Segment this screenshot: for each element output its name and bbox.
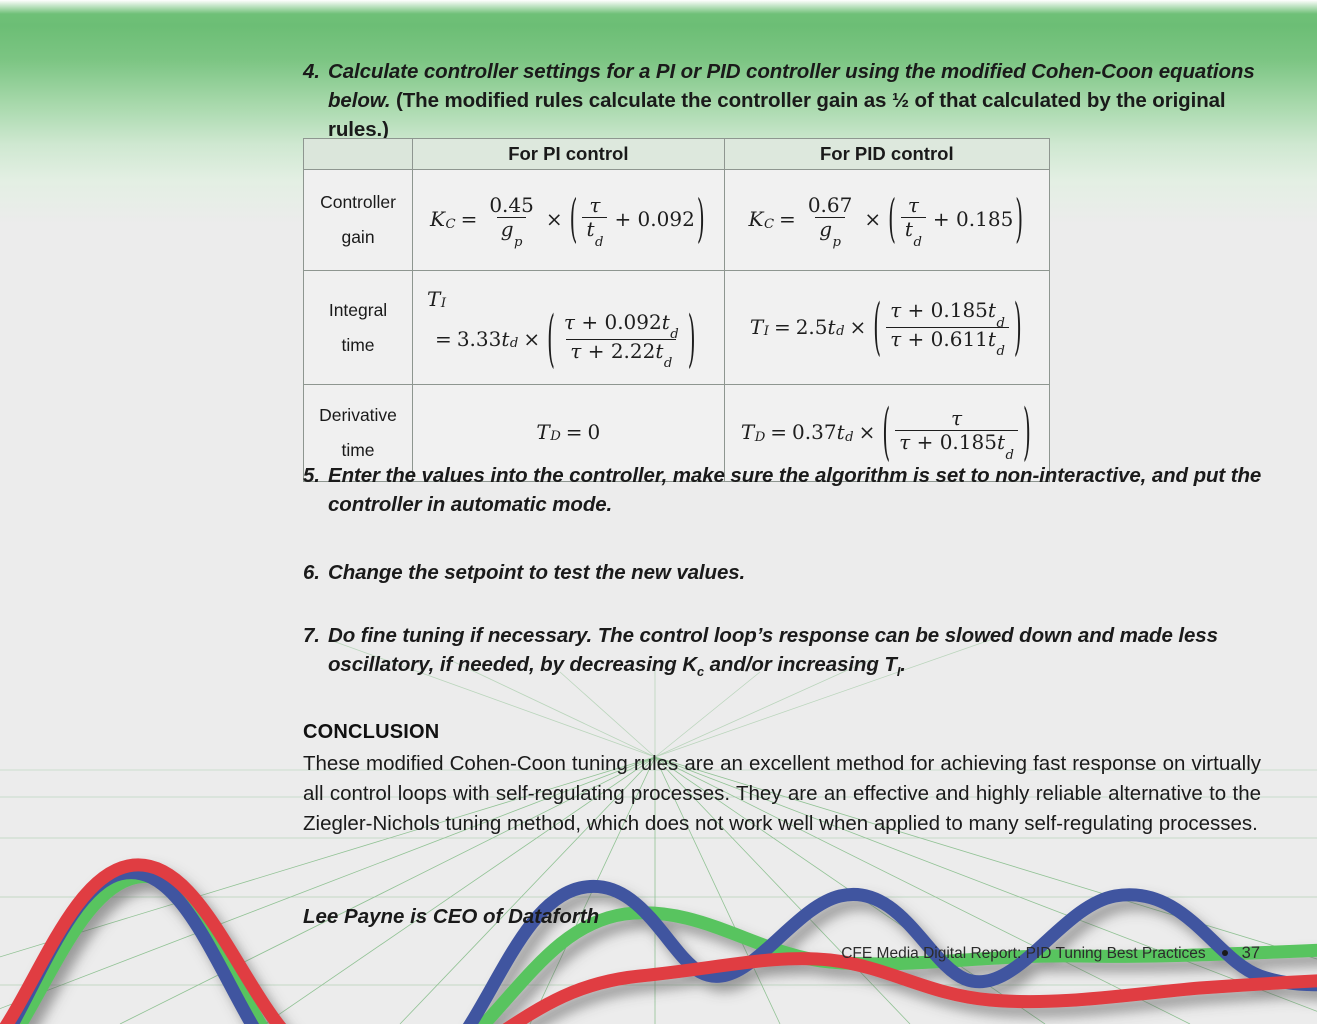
conclusion-heading: CONCLUSION	[303, 721, 439, 744]
row-label-integral-time: Integral time	[304, 271, 413, 385]
formula-cell-integral-pid: TI=2.5td × ( τ + 0.185td τ + 0.611td )	[724, 271, 1049, 385]
list-item-6: 6. Change the setpoint to test the new v…	[303, 558, 1265, 587]
list-item-4-number: 4.	[303, 57, 320, 86]
footer-bullet-separator	[1222, 950, 1228, 956]
formula-cell-gain-pid: KC= 0.67 gp × ( τ td	[724, 170, 1049, 271]
list-item-6-number: 6.	[303, 558, 320, 587]
formula-cell-integral-pi: TI =3.33td × ( τ + 0.092td τ + 2.22td	[413, 271, 725, 385]
row-label-line2: time	[341, 440, 374, 460]
list-item-4-rest: (The modified rules calculate the contro…	[328, 89, 1226, 141]
footer-page-number: 37	[1242, 944, 1260, 962]
table-header-pi: For PI control	[413, 139, 725, 170]
row-label-line2: time	[341, 335, 374, 355]
list-item-7: 7. Do fine tuning if necessary. The cont…	[303, 621, 1265, 686]
row-label-line2: gain	[341, 227, 374, 247]
table-header-row: For PI control For PID control	[304, 139, 1050, 170]
table-row: Integral time TI =3.33td ×	[304, 271, 1050, 385]
table-header-pid: For PID control	[724, 139, 1049, 170]
row-label-line1: Derivative	[319, 405, 397, 425]
row-label-controller-gain: Controller gain	[304, 170, 413, 271]
conclusion-body: These modified Cohen-Coon tuning rules a…	[303, 749, 1261, 839]
formula-cell-gain-pi: KC= 0.45 gp × ( τ td	[413, 170, 725, 271]
row-label-line1: Integral	[329, 300, 387, 320]
author-byline: Lee Payne is CEO of Dataforth	[303, 905, 599, 929]
page-footer: CFE Media Digital Report: PID Tuning Bes…	[300, 944, 1260, 963]
list-item-7-text: Do fine tuning if necessary. The control…	[303, 621, 1265, 686]
list-item-5-number: 5.	[303, 461, 320, 490]
cohen-coon-formula-table: For PI control For PID control Controlle…	[303, 138, 1050, 482]
footer-publication-title: CFE Media Digital Report: PID Tuning Bes…	[841, 945, 1205, 962]
list-item-4: 4. Calculate controller settings for a P…	[303, 57, 1265, 144]
list-item-5: 5. Enter the values into the controller,…	[303, 461, 1265, 519]
document-page: 4. Calculate controller settings for a P…	[0, 0, 1317, 1024]
table-corner-cell	[304, 139, 413, 170]
table-row: Controller gain KC= 0.45 gp × (	[304, 170, 1050, 271]
row-label-line1: Controller	[320, 192, 396, 212]
list-item-6-text: Change the setpoint to test the new valu…	[303, 558, 1265, 587]
list-item-7-number: 7.	[303, 621, 320, 650]
list-item-5-text: Enter the values into the controller, ma…	[303, 461, 1265, 519]
